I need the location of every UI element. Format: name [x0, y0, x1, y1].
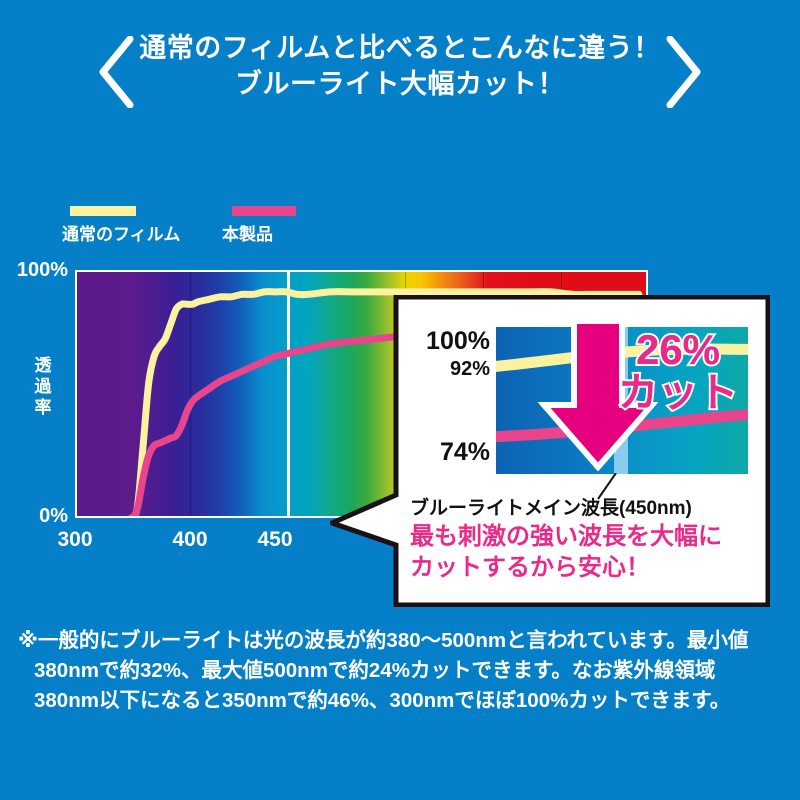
- header-line-2: ブルーライト大幅カット！: [120, 66, 680, 102]
- legend-label-product: 本製品: [222, 225, 273, 244]
- y-axis-title: 透 過 率: [30, 355, 56, 418]
- callout-subcaption-line-2: カットするから安心！: [410, 552, 762, 583]
- transmittance-chart: 通常のフィルム 本製品 100% 0% 透 過 率 300 400: [0, 150, 800, 590]
- x-tick-450: 450: [240, 528, 310, 552]
- x-tick-300: 300: [40, 528, 110, 552]
- header-line-1: 通常のフィルムと比べるとこんなに違う！: [120, 30, 680, 66]
- x-tick-400: 400: [155, 528, 225, 552]
- legend-swatch-normal-film: [70, 206, 136, 216]
- callout-content: 100% 92% 74% 26% カット 26% カット: [398, 305, 762, 597]
- zoom-callout-box: 100% 92% 74% 26% カット 26% カット: [330, 295, 770, 607]
- cut-percentage-word: カット: [598, 373, 758, 413]
- y-axis-title-char-2: 過: [30, 376, 56, 397]
- callout-subcaption: 最も刺激の強い波長を大幅に カットするから安心！: [410, 521, 762, 583]
- legend-label-normal-film: 通常のフィルム: [62, 225, 180, 244]
- y-axis-label-max: 100%: [6, 259, 68, 282]
- legend-item-product: 本製品: [222, 206, 296, 245]
- header-banner: 通常のフィルムと比べるとこんなに違う！ ブルーライト大幅カット！: [0, 22, 800, 122]
- infographic-page: 通常のフィルムと比べるとこんなに違う！ ブルーライト大幅カット！ 通常のフィルム…: [0, 0, 800, 800]
- callout-label-74: 74%: [398, 438, 490, 467]
- chart-legend: 通常のフィルム 本製品: [62, 206, 382, 254]
- cut-percentage-value: 26%: [598, 329, 758, 371]
- callout-label-92: 92%: [398, 358, 490, 381]
- legend-item-normal-film: 通常のフィルム: [62, 206, 180, 245]
- callout-subcaption-line-1: 最も刺激の強い波長を大幅に: [410, 521, 762, 552]
- cut-percentage-text: 26% カット: [598, 329, 758, 413]
- legend-swatch-product: [232, 206, 296, 216]
- footnote-text: ※一般的にブルーライトは光の波長が約380〜500nmと言われています。最小値 …: [18, 626, 788, 716]
- header-title: 通常のフィルムと比べるとこんなに違う！ ブルーライト大幅カット！: [120, 30, 680, 102]
- callout-caption: ブルーライトメイン波長(450nm): [410, 493, 762, 520]
- y-axis-title-char-1: 透: [30, 355, 56, 376]
- y-axis-title-char-3: 率: [30, 397, 56, 418]
- footnote-line-2: 380nmで約32%、最大値500nmで約24%カットできます。なお紫外線領域: [18, 656, 788, 686]
- callout-label-100: 100%: [398, 327, 490, 356]
- footnote-line-1: ※一般的にブルーライトは光の波長が約380〜500nmと言われています。最小値: [18, 626, 788, 656]
- y-axis-label-min: 0%: [6, 505, 68, 528]
- footnote-line-3: 380nm以下になると350nmで約46%、300nmでほぼ100%カットできま…: [18, 686, 788, 716]
